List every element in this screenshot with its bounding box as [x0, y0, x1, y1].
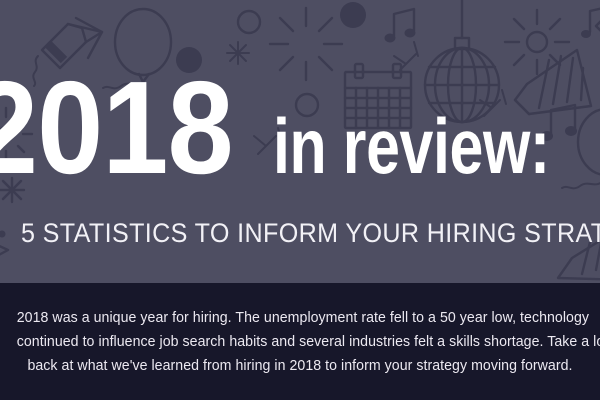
- hero-subtitle: 5 STATISTICS TO INFORM YOUR HIRING STRAT…: [21, 218, 579, 249]
- infographic-canvas: 2018 in review: 5 STATISTICS TO INFORM Y…: [0, 0, 600, 400]
- hero-title: 2018 in review:: [0, 62, 600, 192]
- intro-paragraph: 2018 was a unique year for hiring. The u…: [17, 306, 583, 378]
- intro-paragraph-band: 2018 was a unique year for hiring. The u…: [0, 283, 600, 400]
- hero-text-block: 2018 in review: 5 STATISTICS TO INFORM Y…: [0, 0, 600, 283]
- paragraph-line-3: back at what we've learned from hiring i…: [17, 354, 583, 378]
- paragraph-line-1: 2018 was a unique year for hiring. The u…: [17, 306, 583, 330]
- hero-banner: 2018 in review: 5 STATISTICS TO INFORM Y…: [0, 0, 600, 283]
- paragraph-line-2: continued to influence job search habits…: [17, 330, 583, 354]
- title-year: 2018: [0, 62, 232, 194]
- title-rest: in review:: [273, 107, 550, 185]
